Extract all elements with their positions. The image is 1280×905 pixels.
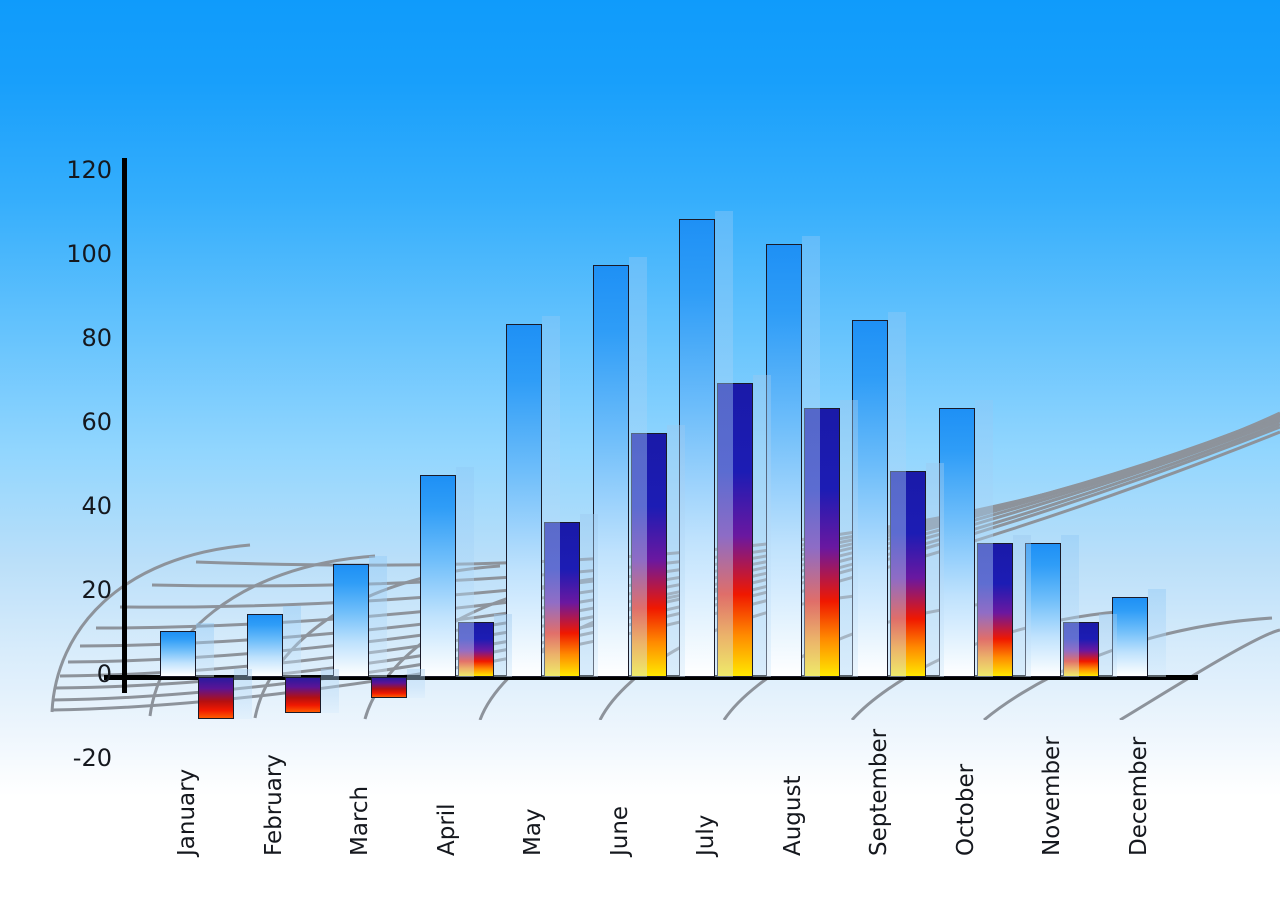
y-tick-0: 0	[50, 662, 112, 686]
x-label-september: September	[868, 729, 891, 856]
bar-april-series1-face	[420, 475, 456, 677]
bar-march-series3[interactable]	[371, 677, 407, 698]
bar-august-series1-depth	[802, 236, 820, 677]
bar-december-series1-depth	[1148, 589, 1166, 677]
chart-canvas: -20020406080100120 JanuaryFebruaryMarchA…	[0, 0, 1280, 905]
bar-march-series1-face	[333, 564, 369, 677]
bar-april-series1-depth	[456, 467, 474, 677]
bar-march-series3-face	[371, 677, 407, 698]
bar-january-series3[interactable]	[198, 677, 234, 719]
bar-august-series2-depth	[840, 400, 858, 677]
bar-july-series1-depth	[715, 211, 733, 677]
x-label-may: May	[522, 808, 545, 856]
bar-march-series1-depth	[369, 556, 387, 677]
y-tick-40: 40	[50, 494, 112, 518]
y-tick-100: 100	[50, 242, 112, 266]
x-label-march: March	[349, 786, 372, 856]
y-tick-80: 80	[50, 326, 112, 350]
bar-may-series2-depth	[580, 514, 598, 677]
bar-july-series2-depth	[753, 375, 771, 677]
bar-january-series3-face	[198, 677, 234, 719]
x-label-april: April	[436, 803, 459, 856]
y-axis-line	[122, 158, 127, 693]
bar-february-series1-face	[247, 614, 283, 677]
bar-april-series1[interactable]	[420, 475, 456, 677]
bar-april-series2-depth	[494, 614, 512, 677]
bar-september-series1-depth	[888, 312, 906, 677]
y-tick-60: 60	[50, 410, 112, 434]
bar-november-series2-depth	[1099, 614, 1117, 677]
bar-january-series3-depth	[234, 669, 252, 719]
bar-january-series1-face	[160, 631, 196, 677]
bar-may-series1-depth	[542, 316, 560, 677]
bar-february-series3-face	[285, 677, 321, 713]
bar-november-series1-depth	[1061, 535, 1079, 677]
x-label-december: December	[1128, 737, 1151, 856]
bar-october-series2-depth	[1013, 535, 1031, 677]
x-label-august: August	[782, 776, 805, 857]
y-tick-120: 120	[50, 158, 112, 182]
bar-march-series1[interactable]	[333, 564, 369, 677]
bar-february-series1-depth	[283, 606, 301, 677]
bar-september-series2-depth	[926, 463, 944, 677]
bar-february-series3-depth	[321, 669, 339, 713]
bar-june-series1-depth	[629, 257, 647, 677]
x-label-january: January	[176, 769, 199, 856]
bar-february-series3[interactable]	[285, 677, 321, 713]
bar-october-series1-depth	[975, 400, 993, 677]
x-label-july: July	[695, 815, 718, 856]
y-tick-neg20: -20	[50, 746, 112, 770]
bar-march-series3-depth	[407, 669, 425, 698]
bar-january-series1[interactable]	[160, 631, 196, 677]
bar-january-series1-depth	[196, 623, 214, 677]
x-label-october: October	[955, 764, 978, 856]
bar-february-series1[interactable]	[247, 614, 283, 677]
y-tick-20: 20	[50, 578, 112, 602]
x-label-june: June	[609, 806, 632, 856]
x-label-november: November	[1041, 736, 1064, 856]
x-label-february: February	[263, 754, 286, 856]
bar-june-series2-depth	[667, 425, 685, 677]
